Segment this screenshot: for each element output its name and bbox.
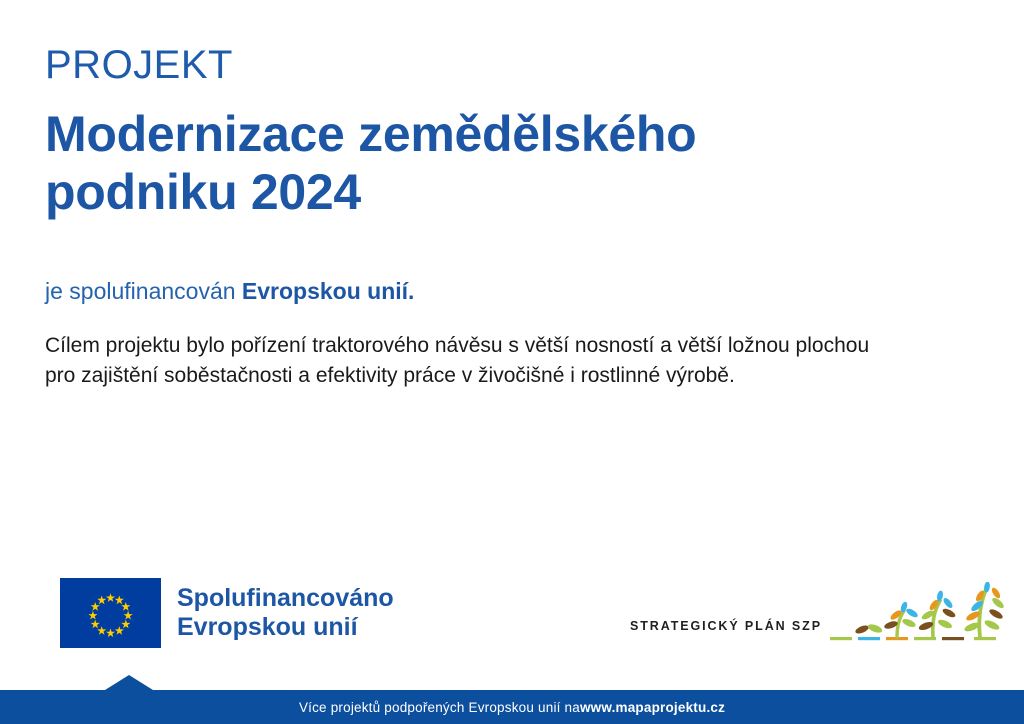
- description-line-1: Cílem projektu bylo pořízení traktorovéh…: [45, 331, 945, 361]
- project-kicker: PROJEKT: [45, 44, 945, 87]
- szp-caption: STRATEGICKÝ PLÁN SZP: [630, 619, 822, 650]
- footer-text: Více projektů podpořených Evropskou unií…: [0, 690, 1024, 724]
- eu-logo-text: Spolufinancováno Evropskou unií: [177, 584, 394, 643]
- page-title: Modernizace zemědělského podniku 2024: [45, 105, 825, 221]
- project-description: Cílem projektu bylo pořízení traktorovéh…: [45, 331, 945, 391]
- footer-url[interactable]: www.mapaprojektu.cz: [580, 700, 725, 715]
- footer-prefix: Více projektů podpořených Evropskou unií…: [299, 700, 580, 715]
- growing-plants-icon: [828, 582, 1018, 650]
- cofunded-statement: je spolufinancován Evropskou unií.: [45, 277, 414, 307]
- eu-logo-line-2: Evropskou unií: [177, 613, 394, 643]
- eu-cofunding-logo: Spolufinancováno Evropskou unií: [60, 578, 394, 648]
- szp-strategic-plan-logo: STRATEGICKÝ PLÁN SZP: [630, 582, 1018, 650]
- eu-logo-line-1: Spolufinancováno: [177, 584, 394, 614]
- cofunded-prefix: je spolufinancován: [45, 278, 242, 304]
- eu-flag-icon: [60, 578, 161, 648]
- headline-block: PROJEKT Modernizace zemědělského podniku…: [45, 44, 945, 221]
- footer-notch: [105, 675, 153, 690]
- description-line-2: pro zajištění soběstačnosti a efektivity…: [45, 361, 945, 391]
- footer-bar: Více projektů podpořených Evropskou unií…: [0, 690, 1024, 724]
- cofunded-emphasis: Evropskou unií.: [242, 278, 415, 304]
- poster-canvas: PROJEKT Modernizace zemědělského podniku…: [0, 0, 1024, 724]
